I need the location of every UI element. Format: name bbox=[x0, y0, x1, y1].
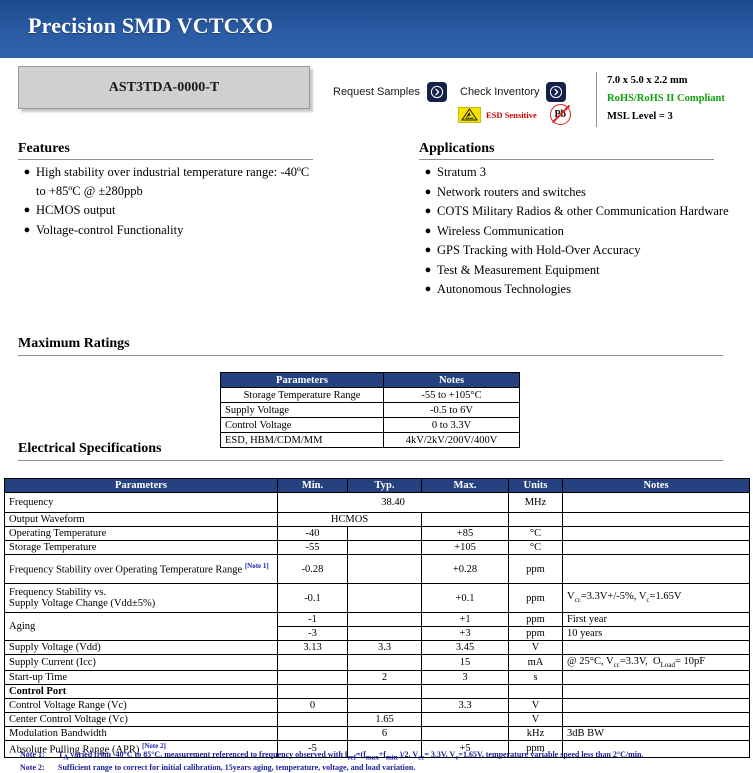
cell-parameter: Control Voltage Range (Vc) bbox=[5, 699, 278, 713]
cell-notes bbox=[563, 527, 750, 541]
bullet-icon: ● bbox=[419, 163, 437, 182]
cell-max: +3 bbox=[422, 627, 509, 641]
footnote-label: Note 1: bbox=[6, 750, 58, 763]
bullet-icon: ● bbox=[419, 222, 437, 241]
cell-typ: 6 bbox=[348, 727, 422, 741]
cell-note: -0.5 to 6V bbox=[384, 403, 520, 418]
cell-max: 15 bbox=[422, 655, 509, 671]
table-row: Modulation Bandwidth 6 kHz 3dB BW bbox=[5, 727, 750, 741]
cell-section-label: Control Port bbox=[5, 685, 278, 699]
cell-notes bbox=[563, 685, 750, 699]
cell-units: V bbox=[509, 641, 563, 655]
bullet-icon: ● bbox=[18, 201, 36, 220]
cell-typ bbox=[348, 627, 422, 641]
column-header: Notes bbox=[384, 373, 520, 388]
cell-max: 3.45 bbox=[422, 641, 509, 655]
cell-notes bbox=[563, 513, 750, 527]
rohs-text: RoHS/RoHS II Compliant bbox=[607, 90, 725, 108]
cell-typ bbox=[348, 655, 422, 671]
cell-min bbox=[278, 655, 348, 671]
list-item: ● Test & Measurement Equipment bbox=[419, 261, 734, 280]
cell-units: ppm bbox=[509, 555, 563, 584]
cell-max: +0.1 bbox=[422, 584, 509, 613]
table-row: Control Voltage Range (Vc) 0 3.3 V bbox=[5, 699, 750, 713]
footnote-text: Sufficient range to correct for initial … bbox=[58, 763, 753, 773]
applications-rule bbox=[419, 159, 714, 160]
cell-parameter: Start-up Time bbox=[5, 671, 278, 685]
table-row: Aging -1 +1 ppm First year bbox=[5, 613, 750, 627]
cell-typ bbox=[348, 541, 422, 555]
compliance-icons: ESD Sensitive Pb bbox=[458, 104, 571, 125]
features-heading: Features bbox=[18, 141, 70, 157]
table-row: ESD, HBM/CDM/MM 4kV/2kV/200V/400V bbox=[221, 433, 520, 448]
cell-notes: @ 25°C, Vcc=3.3V, OLoad= 10pF bbox=[563, 655, 750, 671]
package-info: 7.0 x 5.0 x 2.2 mm RoHS/RoHS II Complian… bbox=[607, 72, 725, 126]
electrical-specifications-table: Parameters Min. Typ. Max. Units Notes Fr… bbox=[4, 478, 750, 758]
cell-note: 0 to 3.3V bbox=[384, 418, 520, 433]
cell-min bbox=[278, 685, 348, 699]
cell-max: +0.28 bbox=[422, 555, 509, 584]
msl-text: MSL Level = 3 bbox=[607, 108, 725, 126]
cell-units: MHz bbox=[509, 493, 563, 513]
features-list: ● High stability over industrial tempera… bbox=[18, 163, 318, 240]
cell-notes bbox=[563, 493, 750, 513]
list-item: ● Wireless Communication bbox=[419, 222, 734, 241]
part-number-box: AST3TDA-0000-T bbox=[18, 66, 310, 109]
cell-notes: Vcc=3.3V+/-5%, Vc=1.65V bbox=[563, 584, 750, 613]
chevron-right-icon[interactable] bbox=[427, 82, 447, 102]
request-samples-link[interactable]: Request Samples bbox=[333, 82, 447, 102]
esd-sensitive-label: ESD Sensitive bbox=[486, 110, 537, 120]
cell-units: V bbox=[509, 713, 563, 727]
cell-typ bbox=[348, 555, 422, 584]
footnotes: Note 1: TA varied from -40°C to 85°C, me… bbox=[6, 750, 753, 773]
column-header: Min. bbox=[278, 479, 348, 493]
footnote-text: TA varied from -40°C to 85°C, measuremen… bbox=[58, 750, 753, 763]
cell-typ: 2 bbox=[348, 671, 422, 685]
column-header: Parameters bbox=[221, 373, 384, 388]
cell-notes: First year bbox=[563, 613, 750, 627]
cell-parameter: Supply Voltage (Vdd) bbox=[5, 641, 278, 655]
cell-min: -1 bbox=[278, 613, 348, 627]
applications-heading: Applications bbox=[419, 141, 494, 157]
cell-parameter: Storage Temperature bbox=[5, 541, 278, 555]
cell-max bbox=[422, 685, 509, 699]
bullet-icon: ● bbox=[419, 280, 437, 299]
table-row: Start-up Time 2 3 s bbox=[5, 671, 750, 685]
list-item: ● Network routers and switches bbox=[419, 183, 734, 202]
table-row: Control Voltage 0 to 3.3V bbox=[221, 418, 520, 433]
cell-max: +105 bbox=[422, 541, 509, 555]
check-inventory-label: Check Inventory bbox=[460, 86, 539, 98]
column-header: Notes bbox=[563, 479, 750, 493]
footnote-row: Note 1: TA varied from -40°C to 85°C, me… bbox=[6, 750, 753, 763]
note-reference: [Note 1] bbox=[245, 562, 269, 570]
cell-note: -55 to +105°C bbox=[384, 388, 520, 403]
applications-list: ● Stratum 3 ● Network routers and switch… bbox=[419, 163, 734, 300]
cell-typ: 1.65 bbox=[348, 713, 422, 727]
cell-parameter: Modulation Bandwidth bbox=[5, 727, 278, 741]
bullet-icon: ● bbox=[419, 202, 437, 221]
cell-max: +1 bbox=[422, 613, 509, 627]
cell-max: 3 bbox=[422, 671, 509, 685]
cell-units: s bbox=[509, 671, 563, 685]
cell-parameter-text: Frequency Stability over Operating Tempe… bbox=[9, 565, 242, 576]
cell-parameter: Frequency Stability vs. Supply Voltage C… bbox=[5, 584, 278, 613]
cell-parameter: Storage Temperature Range bbox=[221, 388, 384, 403]
cell-typ bbox=[348, 699, 422, 713]
table-row: Supply Voltage -0.5 to 6V bbox=[221, 403, 520, 418]
dimensions-text: 7.0 x 5.0 x 2.2 mm bbox=[607, 72, 725, 90]
cell-parameter: Frequency Stability over Operating Tempe… bbox=[5, 555, 278, 584]
cell-min: 0 bbox=[278, 699, 348, 713]
table-row: Frequency Stability over Operating Tempe… bbox=[5, 555, 750, 584]
cell-units bbox=[509, 513, 563, 527]
cell-max: +85 bbox=[422, 527, 509, 541]
table-row: Supply Current (Icc) 15 mA @ 25°C, Vcc=3… bbox=[5, 655, 750, 671]
cell-parameter: Aging bbox=[5, 613, 278, 641]
cell-parameter: Control Voltage bbox=[221, 418, 384, 433]
footnote-label: Note 2: bbox=[6, 763, 58, 773]
column-header: Typ. bbox=[348, 479, 422, 493]
table-row: Output Waveform HCMOS bbox=[5, 513, 750, 527]
maximum-ratings-rule bbox=[18, 355, 723, 356]
cell-parameter: Frequency bbox=[5, 493, 278, 513]
list-item: ● Stratum 3 bbox=[419, 163, 734, 182]
electrical-specifications-rule bbox=[18, 460, 723, 461]
cell-units: ppm bbox=[509, 627, 563, 641]
maximum-ratings-table: Parameters Notes Storage Temperature Ran… bbox=[220, 372, 520, 448]
list-item: ● High stability over industrial tempera… bbox=[18, 163, 318, 200]
cell-parameter: ESD, HBM/CDM/MM bbox=[221, 433, 384, 448]
cell-notes bbox=[563, 713, 750, 727]
list-item: ● Voltage-control Functionality bbox=[18, 221, 318, 240]
header-divider bbox=[596, 72, 597, 127]
cell-note: 4kV/2kV/200V/400V bbox=[384, 433, 520, 448]
bullet-icon: ● bbox=[419, 241, 437, 260]
cell-notes: 3dB BW bbox=[563, 727, 750, 741]
cell-min bbox=[278, 727, 348, 741]
cell-min: -40 bbox=[278, 527, 348, 541]
table-row: Frequency Stability vs. Supply Voltage C… bbox=[5, 584, 750, 613]
features-rule bbox=[18, 159, 313, 160]
cell-parameter: Supply Current (Icc) bbox=[5, 655, 278, 671]
cell-max: 3.3 bbox=[422, 699, 509, 713]
cell-notes bbox=[563, 671, 750, 685]
cell-max bbox=[422, 713, 509, 727]
cell-max bbox=[422, 727, 509, 741]
cell-units: °C bbox=[509, 541, 563, 555]
cell-notes bbox=[563, 555, 750, 584]
bullet-icon: ● bbox=[18, 221, 36, 240]
cell-units: °C bbox=[509, 527, 563, 541]
cell-min: 3.13 bbox=[278, 641, 348, 655]
part-number-text: AST3TDA-0000-T bbox=[109, 80, 219, 96]
cell-units bbox=[509, 685, 563, 699]
cell-min bbox=[278, 671, 348, 685]
cell-typ bbox=[348, 685, 422, 699]
cell-parameter: Supply Voltage bbox=[221, 403, 384, 418]
cell-min: -3 bbox=[278, 627, 348, 641]
table-row: Storage Temperature Range -55 to +105°C bbox=[221, 388, 520, 403]
electrical-specifications-heading: Electrical Specifications bbox=[18, 441, 161, 457]
table-row: Operating Temperature -40 +85 °C bbox=[5, 527, 750, 541]
cell-min: -0.28 bbox=[278, 555, 348, 584]
cell-typ: 3.3 bbox=[348, 641, 422, 655]
check-inventory-link[interactable]: Check Inventory bbox=[460, 82, 566, 102]
column-header: Units bbox=[509, 479, 563, 493]
table-row: Center Control Voltage (Vc) 1.65 V bbox=[5, 713, 750, 727]
table-section-row: Control Port bbox=[5, 685, 750, 699]
list-item: ● COTS Military Radios & other Communica… bbox=[419, 202, 734, 221]
lead-free-icon: Pb bbox=[550, 104, 571, 125]
cell-parameter: Center Control Voltage (Vc) bbox=[5, 713, 278, 727]
note-reference: [Note 2] bbox=[142, 742, 166, 750]
table-row: Supply Voltage (Vdd) 3.13 3.3 3.45 V bbox=[5, 641, 750, 655]
bullet-icon: ● bbox=[419, 183, 437, 202]
cell-units: ppm bbox=[509, 613, 563, 627]
table-row: Frequency 38.40 MHz bbox=[5, 493, 750, 513]
cell-parameter: Operating Temperature bbox=[5, 527, 278, 541]
column-header: Max. bbox=[422, 479, 509, 493]
cell-min: -0.1 bbox=[278, 584, 348, 613]
cell-units: V bbox=[509, 699, 563, 713]
cell-units: ppm bbox=[509, 584, 563, 613]
table-row: Storage Temperature -55 +105 °C bbox=[5, 541, 750, 555]
cell-max bbox=[422, 513, 509, 527]
cell-value: HCMOS bbox=[278, 513, 422, 527]
bullet-icon: ● bbox=[18, 163, 36, 200]
chevron-right-icon[interactable] bbox=[546, 82, 566, 102]
cell-typ bbox=[348, 527, 422, 541]
cell-notes bbox=[563, 641, 750, 655]
cell-notes bbox=[563, 541, 750, 555]
list-item: ● Autonomous Technologies bbox=[419, 280, 734, 299]
cell-units: mA bbox=[509, 655, 563, 671]
cell-units: kHz bbox=[509, 727, 563, 741]
cell-typ bbox=[348, 584, 422, 613]
maximum-ratings-heading: Maximum Ratings bbox=[18, 336, 130, 352]
footnote-row: Note 2: Sufficient range to correct for … bbox=[6, 763, 753, 773]
bullet-icon: ● bbox=[419, 261, 437, 280]
request-samples-label: Request Samples bbox=[333, 86, 420, 98]
column-header: Parameters bbox=[5, 479, 278, 493]
list-item: ● GPS Tracking with Hold-Over Accuracy bbox=[419, 241, 734, 260]
cell-value: 38.40 bbox=[278, 493, 509, 513]
esd-warning-icon bbox=[458, 107, 481, 123]
list-item: ● HCMOS output bbox=[18, 201, 318, 220]
cell-min: -55 bbox=[278, 541, 348, 555]
page-title: Precision SMD VCTCXO bbox=[28, 13, 273, 39]
table-header-row: Parameters Min. Typ. Max. Units Notes bbox=[5, 479, 750, 493]
cell-notes bbox=[563, 699, 750, 713]
cell-typ bbox=[348, 613, 422, 627]
table-header-row: Parameters Notes bbox=[221, 373, 520, 388]
cell-notes: 10 years bbox=[563, 627, 750, 641]
cell-parameter: Output Waveform bbox=[5, 513, 278, 527]
cell-min bbox=[278, 713, 348, 727]
